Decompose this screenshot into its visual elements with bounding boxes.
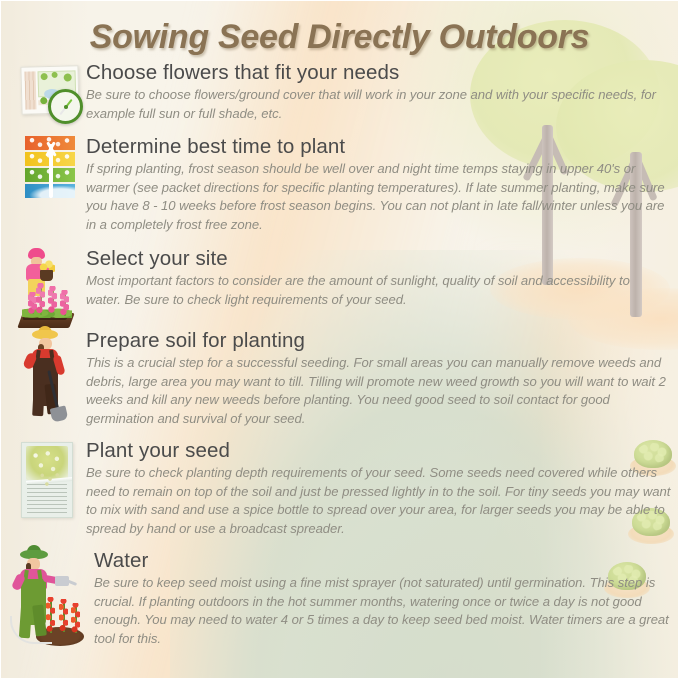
shovel-blade (50, 405, 69, 422)
section-determine-time: Determine best time to plant If spring p… (14, 136, 670, 234)
flower-pot (40, 270, 53, 281)
section-choose-flowers: Choose flowers that fit your needs Be su… (14, 62, 664, 124)
section-text-cell: Prepare soil for planting This is a cruc… (80, 330, 670, 428)
section-text-cell: Water Be sure to keep seed moist using a… (84, 550, 670, 648)
section-heading: Determine best time to plant (86, 136, 670, 159)
flower-blooms (46, 597, 55, 633)
spring-band (25, 136, 75, 150)
section-body: Be sure to keep seed moist using a fine … (94, 574, 670, 648)
red-flower-spike (59, 599, 68, 632)
four-seasons-icon (21, 136, 79, 202)
section-heading: Select your site (86, 248, 654, 271)
section-heading: Prepare soil for planting (86, 330, 670, 353)
seed-packet-icon (19, 440, 75, 520)
compass-hub (64, 105, 68, 109)
garden-plan-shrub (52, 72, 58, 78)
section-icon-cell (14, 248, 80, 328)
flower-blooms (36, 283, 45, 315)
section-body: Be sure to choose flowers/ground cover t… (86, 86, 664, 123)
garden-plan-icon (19, 62, 81, 124)
section-water: Water Be sure to keep seed moist using a… (10, 550, 670, 648)
section-heading: Plant your seed (86, 440, 674, 463)
flower-blooms (59, 599, 68, 632)
flower-blooms (71, 603, 80, 633)
spilled-seeds (37, 470, 63, 488)
autumn-band (25, 168, 75, 182)
section-icon-cell (14, 136, 86, 202)
gardener-shovel-icon (19, 330, 75, 422)
section-icon-cell (14, 330, 80, 422)
section-body: This is a crucial step for a successful … (86, 354, 670, 428)
red-flower-spike (46, 597, 55, 633)
gardener-leg (32, 384, 45, 417)
page-title: Sowing Seed Directly Outdoors (0, 18, 679, 57)
infographic-poster: Sowing Seed Directly Outdoors (0, 0, 679, 679)
section-body: Most important factors to consider are t… (86, 272, 654, 309)
flower-blooms (48, 286, 57, 314)
winter-band (25, 184, 75, 198)
band-leaves (25, 168, 75, 182)
section-heading: Water (94, 550, 670, 573)
flower-bed-icon (16, 248, 78, 328)
band-leaves (25, 152, 75, 166)
section-select-site: Select your site Most important factors … (14, 248, 654, 328)
section-plant-seed: Plant your seed Be sure to check plantin… (14, 440, 674, 538)
band-leaves (25, 136, 75, 150)
section-body: If spring planting, frost season should … (86, 160, 670, 234)
pink-flower-spike (60, 290, 69, 316)
pink-flower-spike (48, 286, 57, 314)
gardener-watering-icon (10, 550, 84, 646)
section-text-cell: Plant your seed Be sure to check plantin… (80, 440, 674, 538)
summer-band (25, 152, 75, 166)
section-icon-cell (10, 550, 84, 646)
red-flower-spike (71, 603, 80, 633)
pink-flower-spike (36, 283, 45, 315)
compass-icon (48, 89, 83, 124)
flower-blooms (60, 290, 69, 316)
section-heading: Choose flowers that fit your needs (86, 62, 664, 85)
section-text-cell: Determine best time to plant If spring p… (86, 136, 670, 234)
sections-container: Choose flowers that fit your needs Be su… (0, 0, 679, 679)
section-body: Be sure to check planting depth requirem… (86, 464, 674, 538)
garden-plan-plot (25, 71, 37, 109)
section-text-cell: Select your site Most important factors … (80, 248, 654, 309)
band-snow (25, 184, 75, 198)
section-prepare-soil: Prepare soil for planting This is a cruc… (14, 330, 670, 428)
section-icon-cell (14, 62, 86, 124)
section-text-cell: Choose flowers that fit your needs Be su… (86, 62, 664, 123)
section-icon-cell (14, 440, 80, 520)
seed-packet-text-lines (27, 484, 67, 516)
